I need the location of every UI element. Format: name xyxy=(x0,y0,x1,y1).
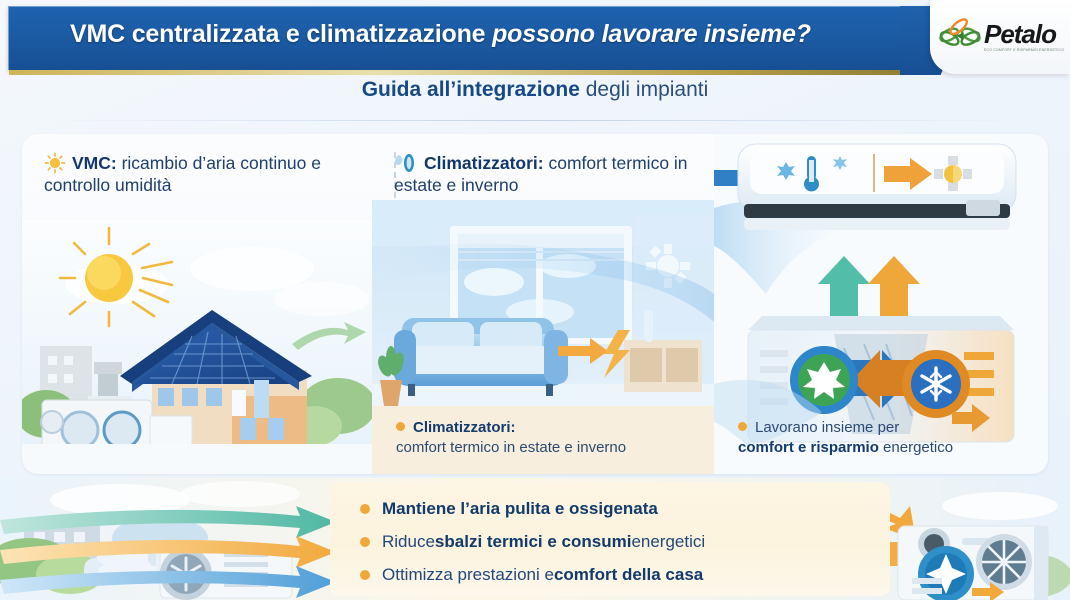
benefit-pre: Riduce xyxy=(382,532,435,552)
logo-wordmark: Petalo xyxy=(984,21,1064,47)
card-vmc-heading: VMC: ricambio d’aria continuo e controll… xyxy=(44,152,362,197)
benefit-bold: Mantiene l’aria pulita e ossigenata xyxy=(382,499,658,519)
thermometer-droplet-icon xyxy=(394,152,418,174)
page-title-main: VMC centralizzata e climatizzazione xyxy=(70,20,492,48)
page-title: VMC centralizzata e climatizzazione poss… xyxy=(70,20,920,49)
page-subtitle-bold: Guida all’integrazione xyxy=(362,78,580,101)
brand-logo[interactable]: Petalo ECO COMFORT E RISPARMIO ENERGETIC… xyxy=(930,0,1070,74)
benefits-list: Mantiene l’aria pulita e ossigenata Ridu… xyxy=(360,492,900,591)
card-climatizzatori-caption-rest: comfort termico in estate e inverno xyxy=(396,439,626,456)
bullet-dot-icon xyxy=(396,422,405,431)
card-integrazione[interactable]: Lavorano insieme per comfort e risparmio… xyxy=(714,134,1048,474)
benefit-bold: comfort della casa xyxy=(554,565,703,585)
header-divider xyxy=(40,120,1030,121)
page-title-italic: possono lavorare insieme? xyxy=(492,20,811,48)
list-item: Ottimizza prestazioni e comfort della ca… xyxy=(360,558,900,591)
card-climatizzatori-heading-bold: Climatizzatori: xyxy=(424,153,544,173)
card-integrazione-caption: Lavorano insieme per comfort e risparmio… xyxy=(738,418,1036,459)
page-subtitle-rest: degli impianti xyxy=(580,78,708,101)
petal-flower-icon xyxy=(938,15,982,59)
bullet-dot-icon xyxy=(738,422,747,431)
card-climatizzatori-caption-bold: Climatizzatori: xyxy=(413,419,516,436)
benefit-pre: Ottimizza prestazioni e xyxy=(382,565,554,585)
card-climatizzatori-caption: Climatizzatori: comfort termico in estat… xyxy=(396,418,702,459)
page-subtitle: Guida all’integrazione degli impianti xyxy=(0,78,1070,102)
bottom-band: Mantiene l’aria pulita e ossigenata Ridu… xyxy=(0,478,1070,600)
card-vmc[interactable]: VMC: ricambio d’aria continuo e controll… xyxy=(22,134,372,474)
bullet-dot-icon xyxy=(360,504,370,514)
card-integrazione-caption-pre: Lavorano insieme per xyxy=(755,419,899,436)
benefit-bold: sbalzi termici e consumi xyxy=(435,532,632,552)
logo-tagline: ECO COMFORT E RISPARMIO ENERGETICO xyxy=(984,49,1064,52)
list-item: Mantiene l’aria pulita e ossigenata xyxy=(360,492,900,525)
cards-row: VMC: ricambio d’aria continuo e controll… xyxy=(22,134,1048,474)
infographic-page: VMC centralizzata e climatizzazione poss… xyxy=(0,0,1070,600)
card-climatizzatori-heading: Climatizzatori: comfort termico in estat… xyxy=(394,152,704,197)
list-item: Riduce sbalzi termici e consumi energeti… xyxy=(360,525,900,558)
bullet-dot-icon xyxy=(360,537,370,547)
card-integrazione-caption-bold: comfort e risparmio xyxy=(738,439,879,456)
card-vmc-heading-bold: VMC: xyxy=(72,153,117,173)
card-climatizzatori[interactable]: Climatizzatori: comfort termico in estat… xyxy=(372,134,714,474)
bullet-dot-icon xyxy=(360,570,370,580)
card-integrazione-caption-post: energetico xyxy=(879,439,953,456)
sun-icon xyxy=(44,152,66,174)
benefit-post: energetici xyxy=(631,532,705,552)
